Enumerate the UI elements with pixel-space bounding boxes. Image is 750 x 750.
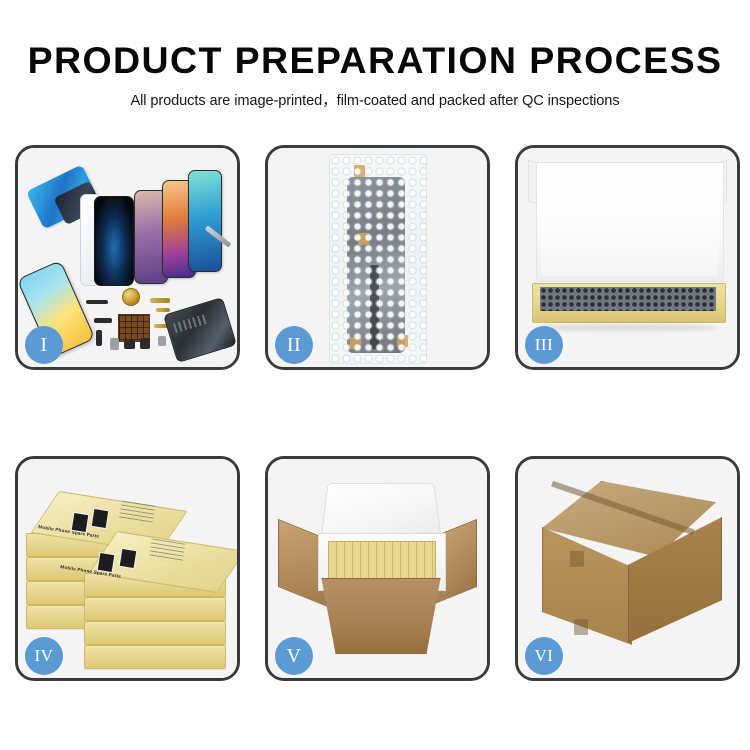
process-step-panel-5[interactable]: V <box>265 456 490 681</box>
process-step-panel-6[interactable]: VI <box>515 456 740 681</box>
flex-cable-2-icon <box>94 318 112 323</box>
box-shadow-icon <box>538 324 718 331</box>
coil-part-icon <box>122 288 140 306</box>
step-badge-1: I <box>25 326 63 364</box>
step-badge-5: V <box>275 637 313 675</box>
screens-layer-icon <box>540 287 716 311</box>
yellow-boxes-icon <box>328 541 436 581</box>
phone-print-icon <box>97 552 116 573</box>
step-badge-4: IV <box>25 637 63 675</box>
step-badge-2: II <box>275 326 313 364</box>
phone-screen-icon <box>94 196 134 286</box>
foam-sheet-icon <box>540 196 718 276</box>
phone-teal-icon <box>188 170 222 272</box>
flex-cable-icon <box>86 300 108 304</box>
process-step-panel-4[interactable]: Mobile Phone Spare Parts Mobile Phone Sp… <box>15 456 240 681</box>
step-badge-3: III <box>525 326 563 364</box>
yellow-box-icon <box>84 621 226 645</box>
carton-tab-2-icon <box>574 619 588 635</box>
phone-print-icon <box>71 512 90 533</box>
notch-icon <box>106 199 122 203</box>
process-step-panel-2[interactable]: II <box>265 145 490 370</box>
page-header: PRODUCT PREPARATION PROCESS All products… <box>0 0 750 130</box>
page-subtitle: All products are image-printed，film-coat… <box>0 80 750 109</box>
phone-print-icon <box>119 548 138 569</box>
carton-body-icon <box>310 578 452 654</box>
flex-cable-3-icon <box>96 330 102 346</box>
bubble-texture-icon <box>330 155 426 363</box>
vibrator-icon <box>140 338 150 349</box>
bubble-wrap-bag-icon <box>329 154 427 364</box>
carton-tab-icon <box>570 551 584 567</box>
gold-connector-icon <box>150 298 170 303</box>
page-title: PRODUCT PREPARATION PROCESS <box>0 0 750 80</box>
camera-module-icon <box>110 338 119 350</box>
sim-tray-icon <box>158 336 166 346</box>
process-step-panel-1[interactable]: I <box>15 145 240 370</box>
process-step-grid: I II III <box>15 145 740 681</box>
yellow-box-icon <box>84 645 226 669</box>
phone-print-icon <box>91 508 110 529</box>
gold-connector-2-icon <box>156 308 170 312</box>
yellow-box-stack: Mobile Phone Spare Parts Mobile Phone Sp… <box>24 475 236 667</box>
process-step-panel-3[interactable]: III <box>515 145 740 370</box>
speaker-icon <box>124 340 135 349</box>
step-badge-6: VI <box>525 637 563 675</box>
yellow-box-icon <box>84 597 226 621</box>
